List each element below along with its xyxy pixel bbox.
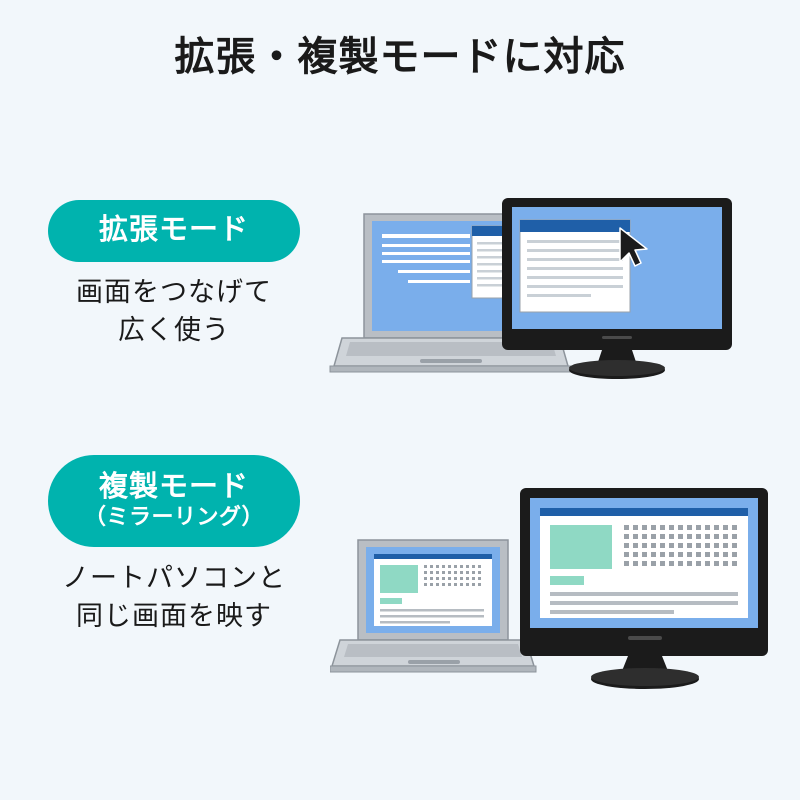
illustration-extended-desktop bbox=[320, 190, 740, 390]
laptop-mirror-screen-content bbox=[374, 554, 492, 626]
laptop-mirror bbox=[330, 540, 536, 672]
pill-extend-main-label: 拡張モード bbox=[99, 214, 249, 247]
monitor-window bbox=[520, 220, 630, 312]
caption-extend-line2: 広く使う bbox=[24, 312, 324, 350]
label-pill-extend-mode: 拡張モード bbox=[48, 200, 300, 262]
pill-mirror-sub-label: （ミラーリング） bbox=[84, 504, 264, 530]
caption-mirror-mode: ノートパソコンと 同じ画面を映す bbox=[24, 560, 324, 636]
monitor-mirror-screen-content bbox=[540, 508, 748, 618]
illustration-mirrored-desktop bbox=[330, 480, 770, 700]
caption-mirror-line2: 同じ画面を映す bbox=[24, 598, 324, 636]
external-monitor-mirror bbox=[520, 488, 768, 689]
pill-mirror-main-label: 複製モード bbox=[99, 471, 249, 504]
caption-extend-mode: 画面をつなげて 広く使う bbox=[24, 274, 324, 350]
caption-extend-line1: 画面をつなげて bbox=[24, 274, 324, 312]
page-title: 拡張・複製モードに対応 bbox=[0, 24, 800, 82]
caption-mirror-line1: ノートパソコンと bbox=[24, 560, 324, 598]
page-root: 拡張・複製モードに対応 拡張モード 画面をつなげて 広く使う bbox=[0, 0, 800, 800]
label-pill-mirror-mode: 複製モード （ミラーリング） bbox=[48, 455, 300, 547]
